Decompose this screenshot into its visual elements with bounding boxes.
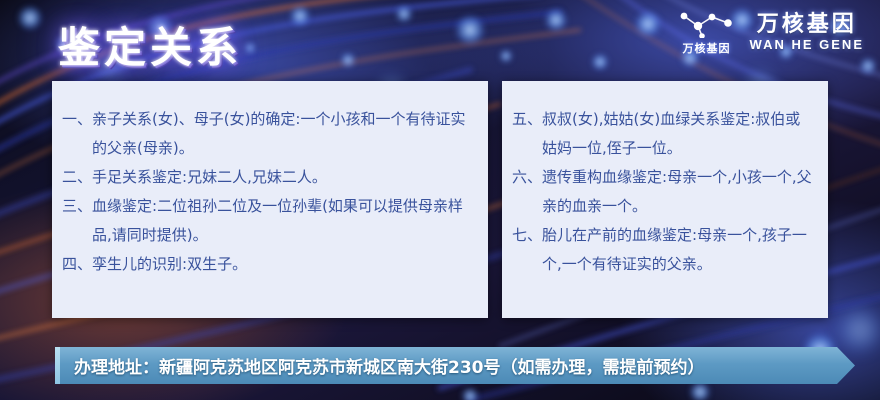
- list-item-text: 血缘鉴定:二位祖孙二位及一位孙辈(如果可以提供母亲样品,请同时提供)。: [92, 192, 474, 250]
- brand-name-cn: 万核基因: [757, 12, 857, 35]
- list-item: 五、叔叔(女),姑姑(女)血绿关系鉴定:叔伯或姑妈一位,侄子一位。: [512, 105, 814, 163]
- brand-mark-label: 万核基因: [683, 40, 731, 56]
- brand-mark: 万核基因: [676, 8, 738, 56]
- list-item-text: 胎儿在产前的血缘鉴定:母亲一个,孩子一个,一个有待证实的父亲。: [542, 221, 814, 279]
- list-items-right: 五、叔叔(女),姑姑(女)血绿关系鉴定:叔伯或姑妈一位,侄子一位。六、遗传重构血…: [512, 105, 814, 279]
- brand-name: 万核基因 WAN HE GENE: [750, 12, 864, 52]
- list-item-number: 四、: [62, 250, 92, 279]
- list-item-number: 一、: [62, 105, 92, 163]
- address-banner: 办理地址：新疆阿克苏地区阿克苏市新城区南大街230号（如需办理，需提前预约）: [55, 347, 855, 384]
- list-item-text: 遗传重构血缘鉴定:母亲一个,小孩一个,父亲的血亲一个。: [542, 163, 814, 221]
- brand-logo: 万核基因 万核基因 WAN HE GENE: [676, 8, 864, 56]
- address-text: 办理地址：新疆阿克苏地区阿克苏市新城区南大街230号（如需办理，需提前预约）: [60, 353, 704, 378]
- list-item: 一、亲子关系(女)、母子(女)的确定:一个小孩和一个有待证实的父亲(母亲)。: [62, 105, 474, 163]
- list-item: 二、手足关系鉴定:兄妹二人,兄妹二人。: [62, 163, 474, 192]
- page-title: 鉴定关系: [58, 14, 242, 75]
- brand-name-en: WAN HE GENE: [750, 38, 864, 52]
- relationship-list-panel-right: 五、叔叔(女),姑姑(女)血绿关系鉴定:叔伯或姑妈一位,侄子一位。六、遗传重构血…: [502, 81, 828, 318]
- list-item-number: 五、: [512, 105, 542, 163]
- list-item: 四、孪生儿的识别:双生子。: [62, 250, 474, 279]
- list-item-number: 七、: [512, 221, 542, 279]
- list-item: 六、遗传重构血缘鉴定:母亲一个,小孩一个,父亲的血亲一个。: [512, 163, 814, 221]
- list-item-number: 三、: [62, 192, 92, 250]
- list-item-text: 手足关系鉴定:兄妹二人,兄妹二人。: [92, 163, 474, 192]
- list-item: 三、血缘鉴定:二位祖孙二位及一位孙辈(如果可以提供母亲样品,请同时提供)。: [62, 192, 474, 250]
- molecule-icon: [676, 8, 738, 38]
- list-item: 七、胎儿在产前的血缘鉴定:母亲一个,孩子一个,一个有待证实的父亲。: [512, 221, 814, 279]
- relationship-list-panel-left: 一、亲子关系(女)、母子(女)的确定:一个小孩和一个有待证实的父亲(母亲)。二、…: [52, 81, 488, 318]
- list-item-text: 孪生儿的识别:双生子。: [92, 250, 474, 279]
- list-item-text: 叔叔(女),姑姑(女)血绿关系鉴定:叔伯或姑妈一位,侄子一位。: [542, 105, 814, 163]
- list-item-text: 亲子关系(女)、母子(女)的确定:一个小孩和一个有待证实的父亲(母亲)。: [92, 105, 474, 163]
- list-item-number: 二、: [62, 163, 92, 192]
- list-item-number: 六、: [512, 163, 542, 221]
- list-items-left: 一、亲子关系(女)、母子(女)的确定:一个小孩和一个有待证实的父亲(母亲)。二、…: [62, 105, 474, 279]
